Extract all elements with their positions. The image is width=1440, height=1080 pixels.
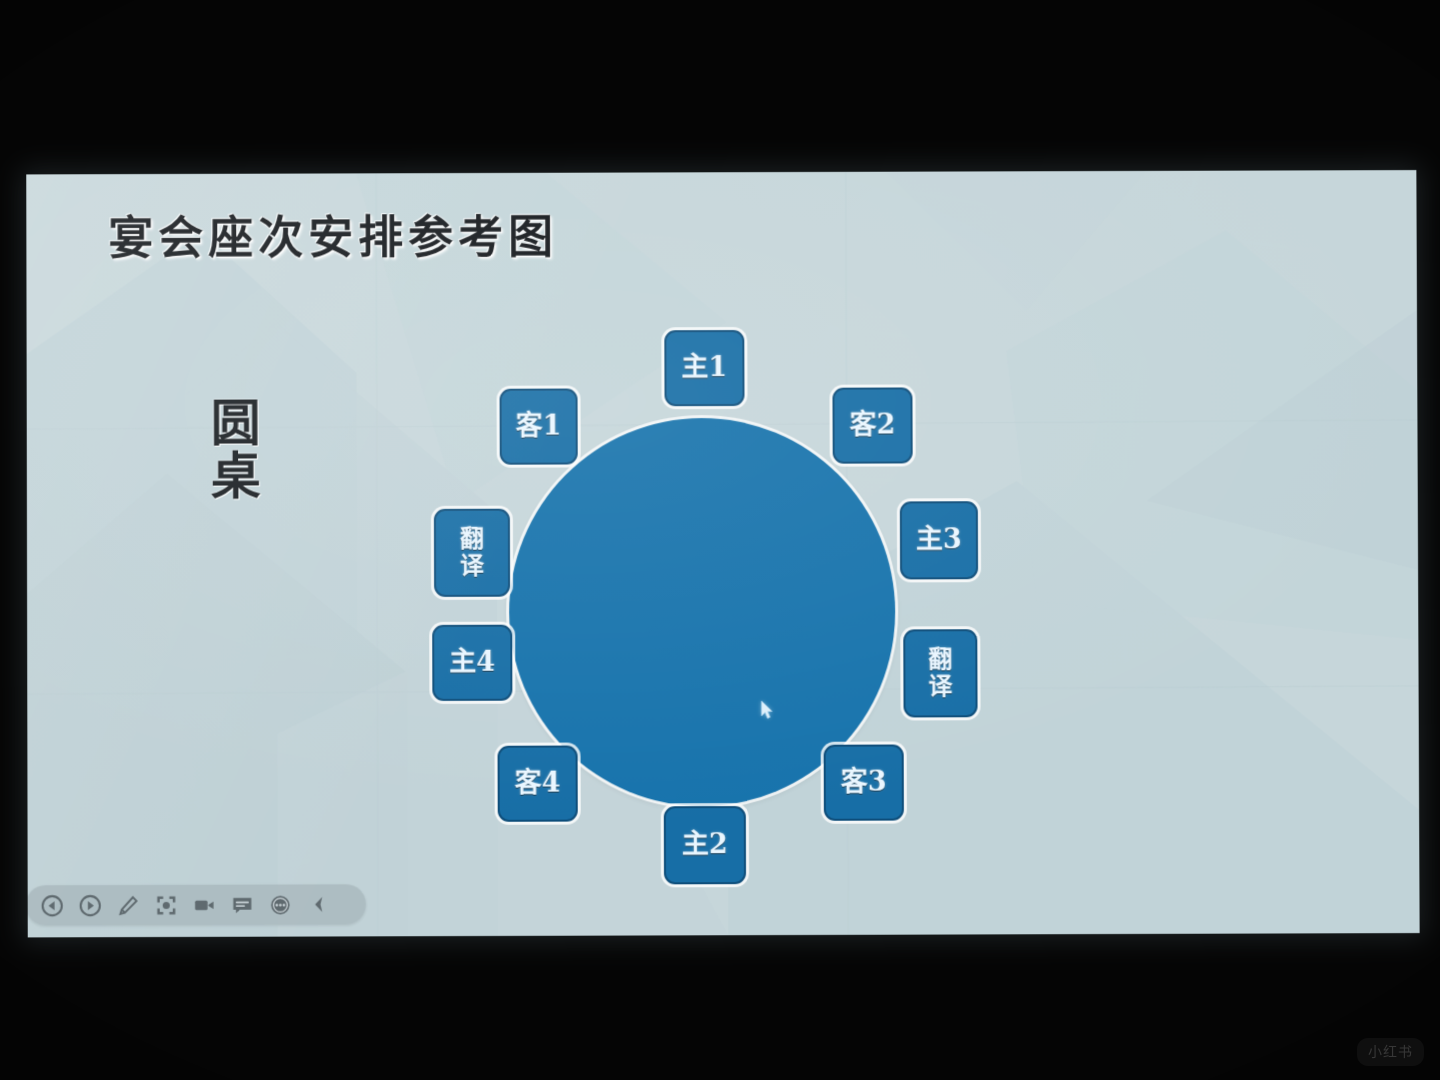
pen-icon[interactable] <box>116 893 141 918</box>
round-table-caption: 圆 桌 <box>171 397 301 502</box>
previous-slide-icon[interactable] <box>40 893 65 918</box>
page-title: 宴会座次安排参考图 <box>108 201 558 267</box>
seat-chip-right-upper: 主3 <box>900 501 978 579</box>
photographed-screen: 宴会座次安排参考图 圆 桌 主1客1客2翻 译主3主4翻 译客4客3主2 <box>0 0 1440 1080</box>
seat-chip-lower-right: 客3 <box>824 744 904 820</box>
slideshow-toolbar[interactable] <box>26 884 366 925</box>
mouse-cursor-icon <box>760 700 773 721</box>
seat-chip-top: 主1 <box>664 330 744 406</box>
seat-chip-upper-left: 客1 <box>500 389 578 465</box>
presentation-slide[interactable]: 宴会座次安排参考图 圆 桌 主1客1客2翻 译主3主4翻 译客4客3主2 <box>26 170 1419 937</box>
caption-char-2: 桌 <box>171 450 301 503</box>
more-options-icon[interactable] <box>268 892 293 917</box>
caption-char-1: 圆 <box>171 397 301 450</box>
seat-chip-lower-left: 客4 <box>498 746 578 822</box>
subtitles-icon[interactable] <box>230 892 255 917</box>
next-slide-icon[interactable] <box>78 893 103 918</box>
camera-icon[interactable] <box>192 892 217 917</box>
seat-chip-left-lower: 主4 <box>432 625 512 701</box>
seat-chip-left-upper: 翻 译 <box>434 509 510 597</box>
seat-chip-bottom: 主2 <box>664 806 746 884</box>
app-watermark: 小红书 <box>1357 1038 1424 1066</box>
seat-chip-upper-right: 客2 <box>832 387 912 463</box>
collapse-icon[interactable] <box>306 892 331 917</box>
zoom-icon[interactable] <box>154 892 179 917</box>
seat-chip-right-lower: 翻 译 <box>903 629 977 717</box>
